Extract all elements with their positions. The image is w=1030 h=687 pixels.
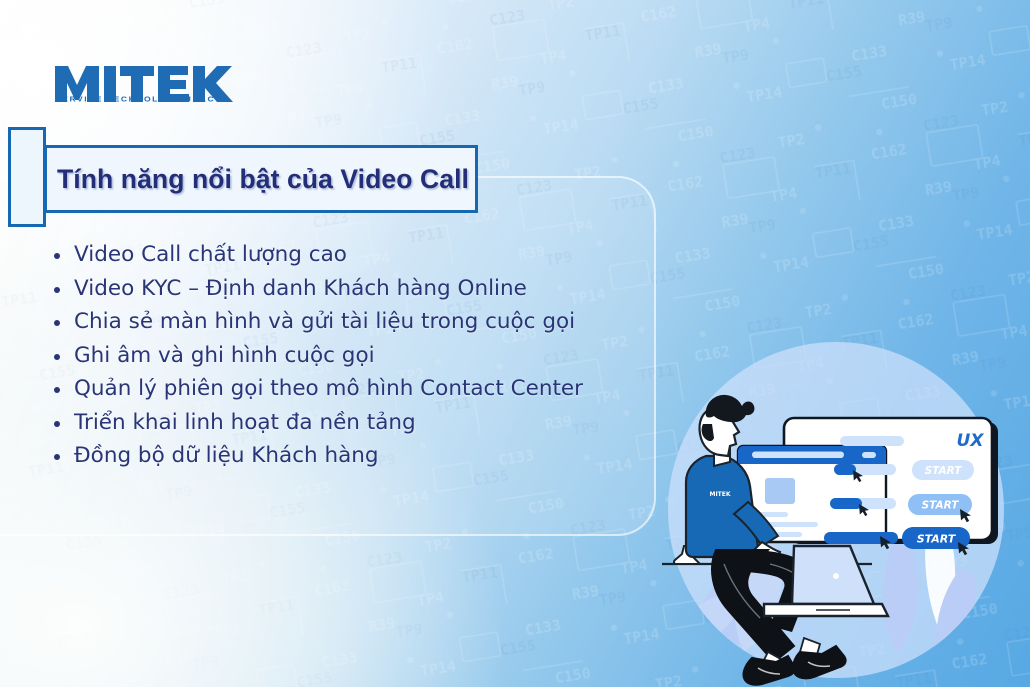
mitek-logo-tagline: SERVICE TECHNOLOGY J.S.C — [55, 95, 215, 103]
feature-list: Video Call chất lượng cao Video KYC – Đị… — [48, 243, 648, 478]
slide-canvas: C133 TP14 C150 TP2 C162 TP4 R39 — [0, 0, 1030, 687]
list-item: Triển khai linh hoạt đa nền tảng — [48, 411, 648, 434]
hero-illustration: UX START START START — [640, 296, 1030, 687]
mitek-logo — [53, 62, 243, 114]
ux-label: UX — [957, 431, 985, 451]
title-box: Tính năng nổi bật của Video Call — [44, 145, 478, 213]
list-item: Ghi âm và ghi hình cuộc gọi — [48, 344, 648, 367]
list-item: Đồng bộ dữ liệu Khách hàng — [48, 444, 648, 467]
list-item: Video KYC – Định danh Khách hàng Online — [48, 277, 648, 300]
svg-text:START: START — [925, 465, 963, 477]
shirt-logo: MITEK — [709, 491, 730, 498]
title-accent-box — [8, 127, 46, 227]
page-title: Tính năng nổi bật của Video Call — [57, 164, 469, 195]
list-item: Chia sẻ màn hình và gửi tài liệu trong c… — [48, 310, 648, 333]
list-item: Quản lý phiên gọi theo mô hình Contact C… — [48, 377, 648, 400]
list-item: Video Call chất lượng cao — [48, 243, 648, 266]
